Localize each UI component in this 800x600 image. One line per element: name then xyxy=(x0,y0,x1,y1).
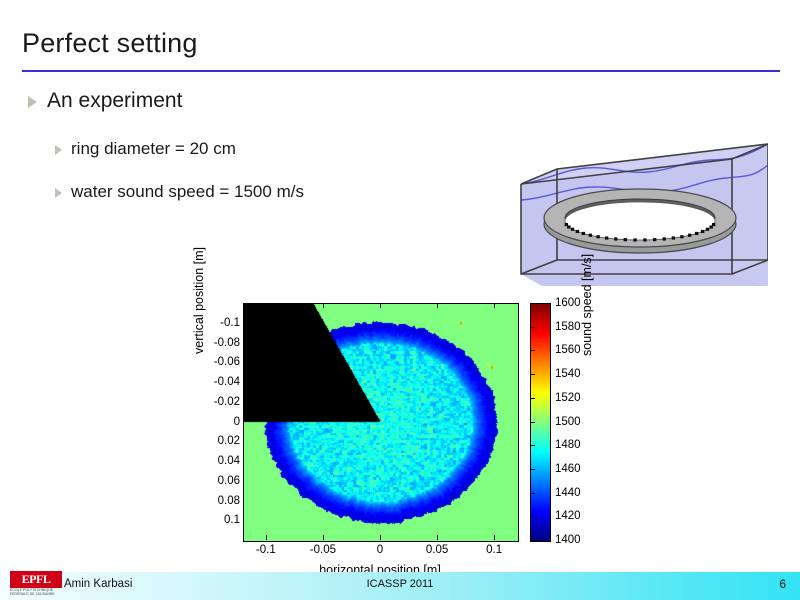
transducer-dot xyxy=(567,225,570,228)
y-axis-tick-label: 0.1 xyxy=(224,514,240,526)
colorbar-label: sound speed [m/s] xyxy=(580,254,594,356)
colorbar-tick-label: 1520 xyxy=(555,392,581,404)
y-axis-tick-label: 0.04 xyxy=(218,455,240,467)
transducer-dot xyxy=(624,238,627,241)
y-axis-tick-label: 0 xyxy=(234,416,240,428)
y-axis-tick-label: 0.08 xyxy=(218,495,240,507)
transducer-dot xyxy=(706,228,709,231)
x-axis-tick-mark-top xyxy=(323,303,324,308)
transducer-dot xyxy=(614,237,617,240)
colorbar-tick-mark xyxy=(530,469,535,470)
transducer-dot xyxy=(695,232,698,235)
x-axis-tick-label: -0.05 xyxy=(310,544,336,556)
colorbar-tick-mark xyxy=(530,398,535,399)
y-axis-tick-label: -0.08 xyxy=(214,337,240,349)
x-axis-tick-mark xyxy=(437,535,438,540)
colorbar-tick-label: 1580 xyxy=(555,321,581,333)
transducer-dot xyxy=(672,236,675,239)
colorbar-tick-mark xyxy=(530,516,535,517)
bullet-triangle-icon xyxy=(55,145,62,155)
footer-page-number: 6 xyxy=(779,577,786,591)
colorbar xyxy=(530,303,551,542)
colorbar-tick-mark xyxy=(530,327,535,328)
colorbar-tick-mark xyxy=(530,445,535,446)
colorbar-tick-label: 1480 xyxy=(555,439,581,451)
x-axis-tick-label: 0.05 xyxy=(426,544,448,556)
transducer-dot xyxy=(633,238,636,241)
colorbar-tick-label: 1440 xyxy=(555,487,581,499)
x-axis-tick-mark xyxy=(380,535,381,540)
transducer-dot xyxy=(653,238,656,241)
y-axis-tick-label: 0.06 xyxy=(218,475,240,487)
footer-conference: ICASSP 2011 xyxy=(0,578,800,590)
x-axis-tick-label: -0.1 xyxy=(256,544,276,556)
y-axis-tick-label: -0.06 xyxy=(214,356,240,368)
x-axis-tick-mark-top xyxy=(437,303,438,308)
colorbar-tick-label: 1400 xyxy=(555,534,581,546)
sound-speed-heatmap-figure: vertical position [m] -0.1-0.08-0.06-0.0… xyxy=(196,296,566,561)
y-axis-ticks: -0.1-0.08-0.06-0.04-0.0200.020.040.060.0… xyxy=(196,296,240,561)
transducer-dot xyxy=(688,234,691,237)
x-axis-tick-mark-top xyxy=(380,303,381,308)
colorbar-tick-label: 1560 xyxy=(555,344,581,356)
transducer-dot xyxy=(663,237,666,240)
colorbar-tick-label: 1600 xyxy=(555,297,581,309)
bullet-item-sound-speed: water sound speed = 1500 m/s xyxy=(55,182,304,202)
colorbar-tick-mark xyxy=(530,374,535,375)
bullet-item-experiment: An experiment xyxy=(28,89,182,113)
water-tank-illustration xyxy=(500,108,768,286)
transducer-ring xyxy=(544,189,736,253)
water-tank-svg xyxy=(500,108,768,286)
slide: Perfect setting An experiment ring diame… xyxy=(0,0,800,600)
colorbar-tick-mark xyxy=(530,422,535,423)
title-underline-rule xyxy=(22,70,780,72)
colorbar-gradient xyxy=(531,304,550,541)
y-axis-tick-label: -0.1 xyxy=(220,317,240,329)
x-axis-tick-mark-top xyxy=(266,303,267,308)
transducer-dot xyxy=(596,235,599,238)
transducer-dot xyxy=(643,238,646,241)
y-axis-tick-label: -0.02 xyxy=(214,396,240,408)
colorbar-tick-mark xyxy=(530,493,535,494)
colorbar-tick-label: 1460 xyxy=(555,463,581,475)
colorbar-tick-label: 1420 xyxy=(555,510,581,522)
x-axis-tick-mark xyxy=(266,535,267,540)
colorbar-tick-label: 1540 xyxy=(555,368,581,380)
bullet-item-ring-diameter: ring diameter = 20 cm xyxy=(55,139,236,159)
bullet-triangle-icon xyxy=(55,188,62,198)
y-axis-tick-label: 0.02 xyxy=(218,435,240,447)
transducer-dot xyxy=(701,230,704,233)
transducer-dot xyxy=(571,228,574,231)
x-axis-tick-label: 0.1 xyxy=(486,544,502,556)
transducer-dot xyxy=(712,223,715,226)
y-axis-tick-label: -0.04 xyxy=(214,376,240,388)
bullet-label: An experiment xyxy=(47,89,182,113)
x-axis-tick-mark xyxy=(323,535,324,540)
transducer-dot xyxy=(589,234,592,237)
x-axis-tick-mark xyxy=(494,535,495,540)
page-title: Perfect setting xyxy=(22,28,198,59)
transducer-dot xyxy=(582,232,585,235)
bullet-label: water sound speed = 1500 m/s xyxy=(71,182,304,202)
colorbar-tick-mark xyxy=(530,540,535,541)
bullet-label: ring diameter = 20 cm xyxy=(71,139,236,159)
transducer-dot xyxy=(576,230,579,233)
colorbar-tick-mark xyxy=(530,350,535,351)
colorbar-tick-mark xyxy=(530,303,535,304)
heatmap-canvas xyxy=(244,304,518,541)
bullet-triangle-icon xyxy=(28,96,37,108)
x-axis-tick-mark-top xyxy=(494,303,495,308)
x-axis-tick-label: 0 xyxy=(377,544,383,556)
heatmap-plot-area xyxy=(243,303,519,542)
colorbar-tick-label: 1500 xyxy=(555,416,581,428)
transducer-dot xyxy=(605,236,608,239)
transducer-dot xyxy=(680,235,683,238)
